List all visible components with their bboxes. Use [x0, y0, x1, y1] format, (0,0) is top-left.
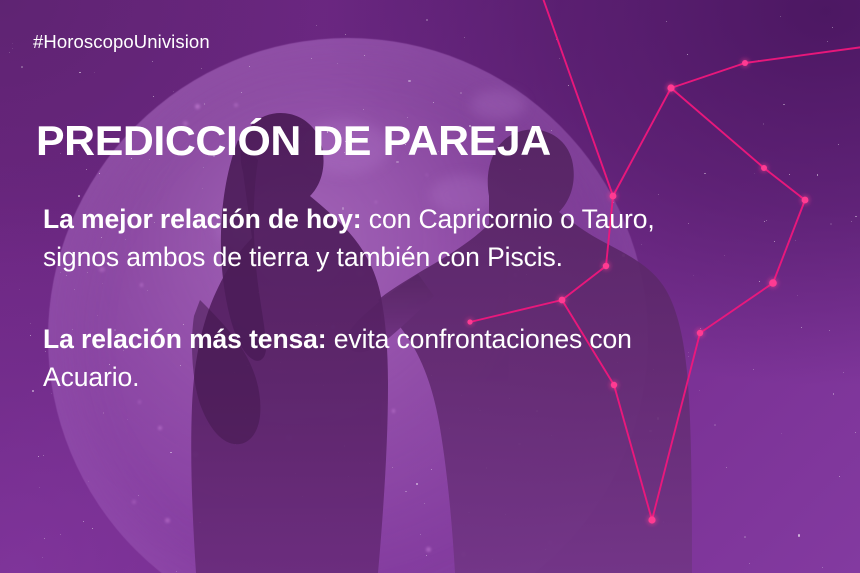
- tense-match-line2: Acuario.: [43, 358, 833, 396]
- paragraph-tense-match: La relación más tensa: evita confrontaci…: [43, 320, 833, 396]
- text-layer: #HoroscopoUnivision PREDICCIÓN DE PAREJA…: [0, 0, 860, 573]
- best-match-line1: con Capricornio o Tauro,: [362, 204, 655, 234]
- paragraph-best-match: La mejor relación de hoy: con Capricorni…: [43, 200, 833, 276]
- horoscope-card: #HoroscopoUnivision PREDICCIÓN DE PAREJA…: [0, 0, 860, 573]
- tense-match-line1: evita confrontaciones con: [327, 324, 632, 354]
- page-title: PREDICCIÓN DE PAREJA: [36, 120, 551, 162]
- best-match-lead: La mejor relación de hoy:: [43, 204, 362, 234]
- hashtag-label: #HoroscopoUnivision: [33, 31, 210, 53]
- best-match-line2: signos ambos de tierra y también con Pis…: [43, 238, 833, 276]
- tense-match-lead: La relación más tensa:: [43, 324, 327, 354]
